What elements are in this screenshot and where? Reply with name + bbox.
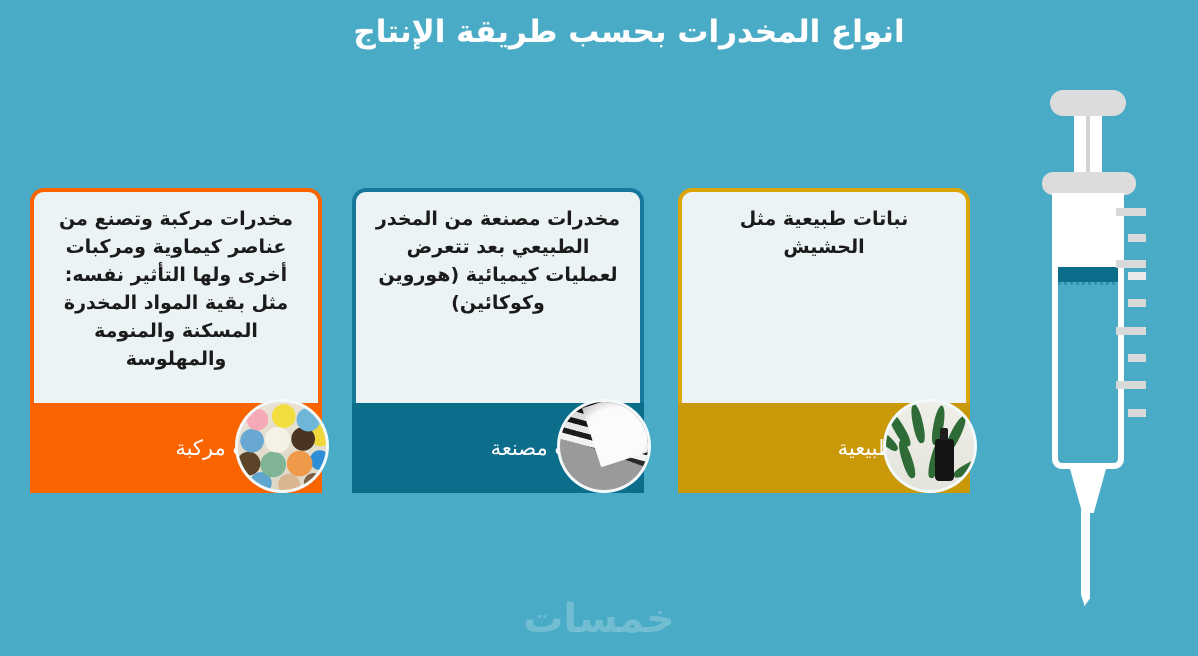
syringe-tick-mark [1128, 299, 1146, 307]
card-description: نباتات طبيعية مثل الحشيش [698, 206, 950, 262]
card-synthetic-compound[interactable]: مخدرات مركبة وتصنع من عناصر كيماوية ومرك… [30, 188, 322, 493]
syringe-tick-mark [1116, 260, 1146, 268]
dropper-bottle-icon [935, 439, 954, 481]
watermark-logo: خمسات [0, 596, 1198, 642]
ecstasy-pills-photo [235, 399, 329, 493]
card-description: مخدرات مركبة وتصنع من عناصر كيماوية ومرك… [50, 206, 302, 374]
page-title: انواع المخدرات بحسب طريقة الإنتاج [0, 14, 1198, 50]
card-body: مخدرات مصنعة من المخدر الطبيعي بعد تتعرض… [352, 188, 644, 403]
photo-image [560, 402, 648, 490]
syringe-fill-line [1058, 282, 1118, 285]
syringe-tick-mark [1116, 327, 1146, 335]
syringe-nozzle [1070, 469, 1106, 513]
syringe-tick-mark [1128, 272, 1146, 280]
syringe-tick-mark [1128, 354, 1146, 362]
syringe-tick-mark [1116, 208, 1146, 216]
syringe-plunger-rod [1074, 116, 1102, 174]
syringe-tick-mark [1128, 234, 1146, 242]
cards-container: مخدرات مركبة وتصنع من عناصر كيماوية ومرك… [30, 188, 970, 493]
syringe-finger-flange [1042, 172, 1136, 195]
card-description: مخدرات مصنعة من المخدر الطبيعي بعد تتعرض… [372, 206, 624, 318]
cocaine-lines-photo [557, 399, 651, 493]
syringe-tick-mark [1128, 409, 1146, 417]
syringe-tick-mark [1116, 381, 1146, 389]
syringe-illustration [1048, 90, 1152, 600]
cannabis-leaves-photo [883, 399, 977, 493]
card-natural-plants[interactable]: نباتات طبيعية مثل الحشيش نباتات طبيعية [678, 188, 970, 493]
syringe-thumb-rest [1050, 90, 1126, 116]
card-manufactured[interactable]: مخدرات مصنعة من المخدر الطبيعي بعد تتعرض… [352, 188, 644, 493]
syringe-needle [1081, 510, 1090, 606]
syringe-barrel-empty-section [1052, 193, 1124, 267]
photo-image [238, 402, 326, 490]
photo-image [886, 402, 974, 490]
card-body: مخدرات مركبة وتصنع من عناصر كيماوية ومرك… [30, 188, 322, 403]
card-body: نباتات طبيعية مثل الحشيش [678, 188, 970, 403]
syringe-plunger-seal [1058, 267, 1118, 282]
